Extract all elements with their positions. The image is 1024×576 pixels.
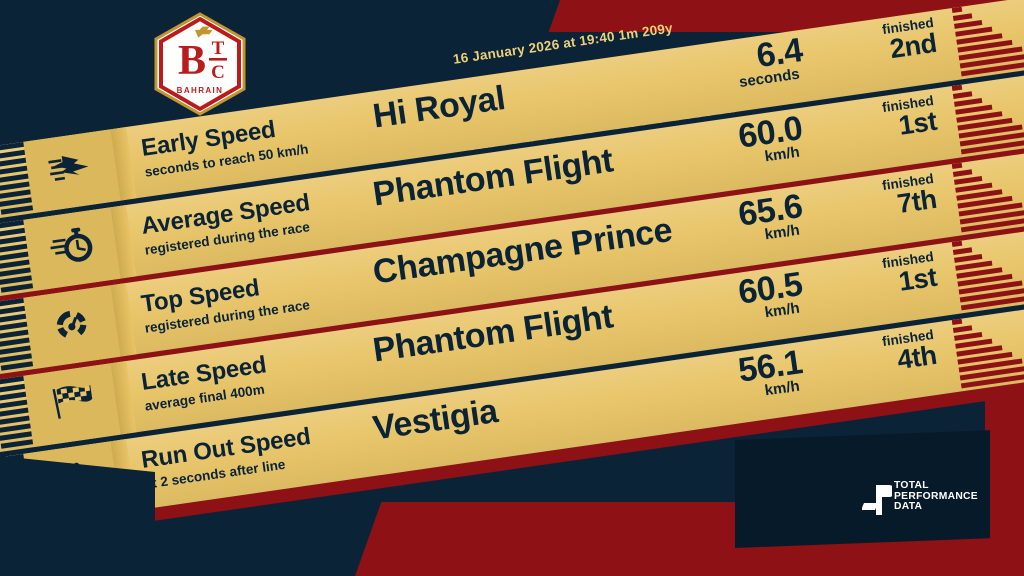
speedometer-icon: [47, 302, 97, 353]
infographic-canvas: B T C BAHRAIN THE Bahrain TURF CLUB 16 J…: [0, 0, 1024, 576]
finish-position-group: finished4th: [881, 327, 938, 376]
speed-lines-icon: [47, 146, 97, 197]
row-right-speed-trail: [952, 0, 1024, 79]
finish-position-group: finished2nd: [881, 15, 938, 64]
row-right-speed-trail: [952, 151, 1024, 235]
row-right-speed-trail: [952, 73, 1024, 157]
stat-value-group: 60.5km/h: [736, 268, 806, 325]
row-icon-panel: [23, 363, 120, 447]
tpd-line-1: TOTAL: [894, 481, 978, 492]
total-performance-data-logo: TOTAL PERFORMANCE DATA: [862, 481, 992, 523]
svg-text:T: T: [212, 38, 225, 59]
stat-value-group: 65.6km/h: [736, 190, 806, 247]
stat-value-group: 56.1km/h: [736, 346, 806, 403]
checkered-flag-icon: [46, 380, 98, 431]
stopwatch-icon: [47, 224, 97, 275]
svg-text:B: B: [178, 38, 206, 84]
tpd-line-3: DATA: [894, 502, 978, 513]
svg-text:C: C: [211, 62, 225, 83]
stat-value-group: 6.4seconds: [734, 34, 807, 91]
svg-text:BAHRAIN: BAHRAIN: [177, 86, 224, 95]
stat-value-group: 60.0km/h: [736, 112, 806, 169]
finish-position-group: finished1st: [881, 93, 938, 142]
finish-position-group: finished1st: [881, 249, 938, 298]
row-right-speed-trail: [952, 307, 1024, 391]
row-right-speed-trail: [952, 229, 1024, 313]
tpd-wordmark: TOTAL PERFORMANCE DATA: [894, 481, 978, 513]
tpd-mark-icon: [862, 483, 892, 522]
row-icon-panel: [23, 207, 120, 291]
row-icon-panel: [23, 129, 120, 213]
row-icon-panel: [23, 285, 120, 369]
btc-badge-icon: B T C BAHRAIN: [148, 12, 252, 116]
finish-position-group: finished7th: [881, 171, 938, 220]
